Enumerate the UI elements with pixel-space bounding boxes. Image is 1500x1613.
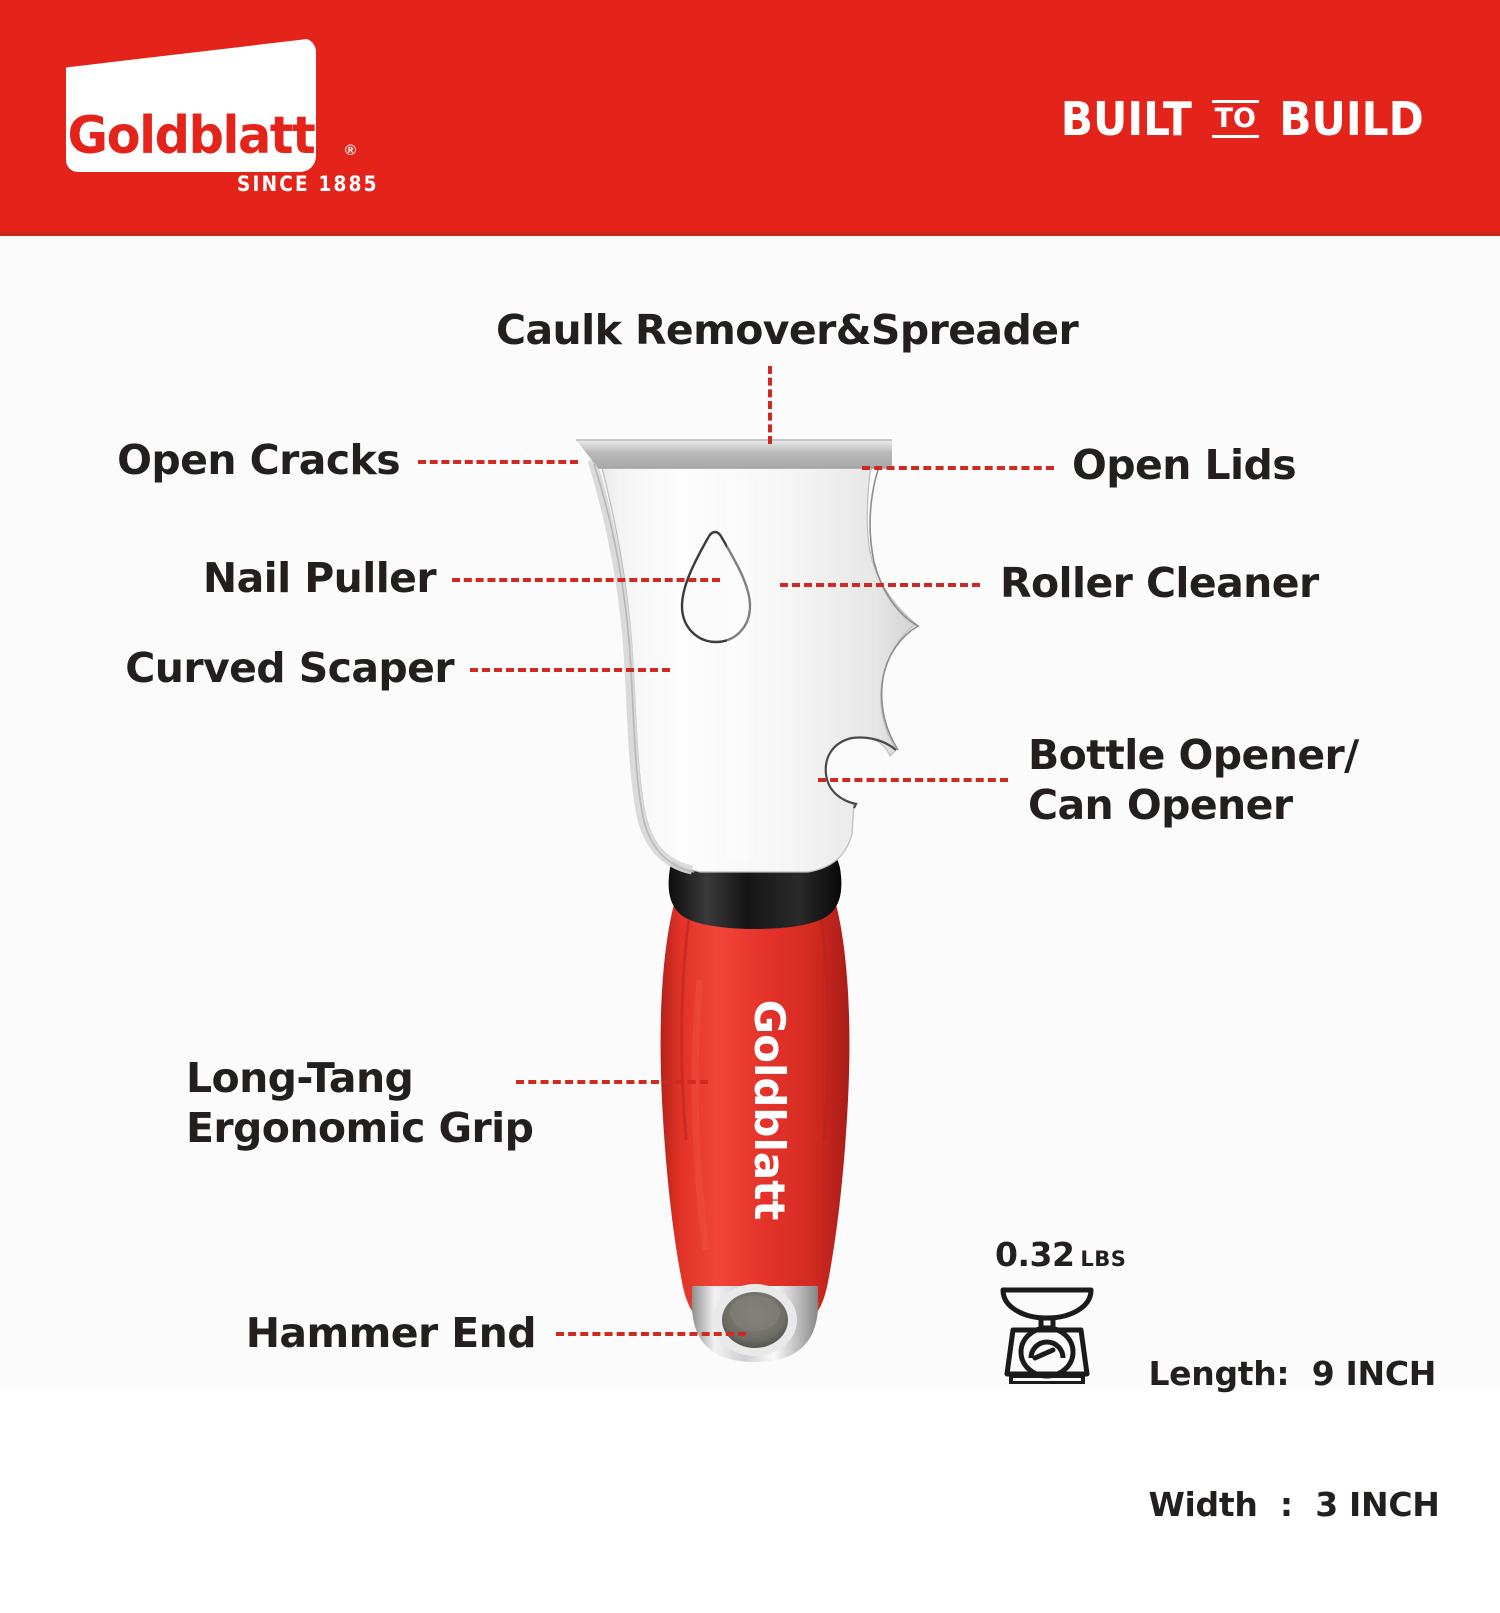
leader-open-cracks	[418, 460, 578, 464]
dimensions-group: Length: 9 INCH Width : 3 INCH	[1148, 1265, 1439, 1613]
callout-caulk-remover-spreader: Caulk Remover&Spreader	[496, 305, 1078, 355]
brand-since-text: SINCE 1885	[237, 172, 379, 196]
callout-hammer-end: Hammer End	[0, 1308, 536, 1358]
callout-roller-cleaner: Roller Cleaner	[1000, 558, 1319, 608]
product-image-5in1-painters-tool: Goldblatt	[540, 420, 970, 1380]
registered-trademark-icon: ®	[345, 142, 356, 159]
callout-nail-puller: Nail Puller	[0, 553, 436, 603]
tagline-built: BUILT	[1061, 96, 1192, 142]
weight-unit: LBS	[1080, 1247, 1126, 1271]
length-spec: Length: 9 INCH	[1148, 1352, 1439, 1396]
logo-badge-content: Goldblatt	[66, 38, 316, 172]
callout-grip-line2: Ergonomic Grip	[186, 1103, 533, 1153]
weight-value: 0.32	[995, 1235, 1074, 1274]
callout-can-opener-line2: Can Opener	[1028, 780, 1359, 830]
brand-header: Goldblatt ® SINCE 1885 BUILT TO BUILD	[0, 0, 1500, 236]
callout-curved-scaper: Curved Scaper	[0, 643, 454, 693]
product-infographic-page: Goldblatt ® SINCE 1885 BUILT TO BUILD	[0, 0, 1500, 1389]
tagline-rule-bottom	[1212, 135, 1259, 138]
callout-bottle-can-opener: Bottle Opener/ Can Opener	[1028, 730, 1359, 830]
brand-tagline: BUILT TO BUILD	[1055, 96, 1430, 142]
leader-ergonomic-grip	[516, 1080, 708, 1084]
leader-curved-scaper	[470, 668, 670, 672]
callout-grip-line1: Long-Tang	[186, 1053, 533, 1103]
leader-bottle-opener	[818, 778, 1008, 782]
handle-brand-text: Goldblatt	[745, 1000, 794, 1221]
weight-group: 0.32LBS	[995, 1235, 1126, 1384]
tagline-to-block: TO	[1210, 100, 1261, 138]
weight-readout: 0.32LBS	[995, 1235, 1126, 1274]
specifications-block: 0.32LBS Length: 9 INCH Width : 3 INCH	[995, 1235, 1440, 1613]
leader-nail-puller	[452, 578, 720, 582]
tool-hammer-end	[692, 1284, 818, 1362]
kitchen-scale-icon	[995, 1278, 1099, 1384]
callout-long-tang-ergonomic-grip: Long-Tang Ergonomic Grip	[186, 1053, 533, 1153]
tagline-build: BUILD	[1279, 96, 1423, 142]
leader-hammer-end	[556, 1332, 746, 1336]
tool-illustration: Goldblatt	[540, 420, 970, 1380]
handle-wordmark: Goldblatt	[745, 1000, 794, 1221]
tagline-to: TO	[1212, 103, 1259, 135]
leader-open-lids	[862, 466, 1054, 470]
width-spec: Width : 3 INCH	[1148, 1483, 1439, 1527]
leader-caulk-remover	[768, 366, 772, 444]
leader-roller-cleaner	[780, 583, 980, 587]
tool-blade	[576, 440, 918, 872]
brand-logo-wordmark: Goldblatt	[68, 110, 315, 162]
callout-open-cracks: Open Cracks	[0, 435, 400, 485]
callout-open-lids: Open Lids	[1072, 440, 1296, 490]
callout-bottle-opener-line1: Bottle Opener/	[1028, 730, 1359, 780]
